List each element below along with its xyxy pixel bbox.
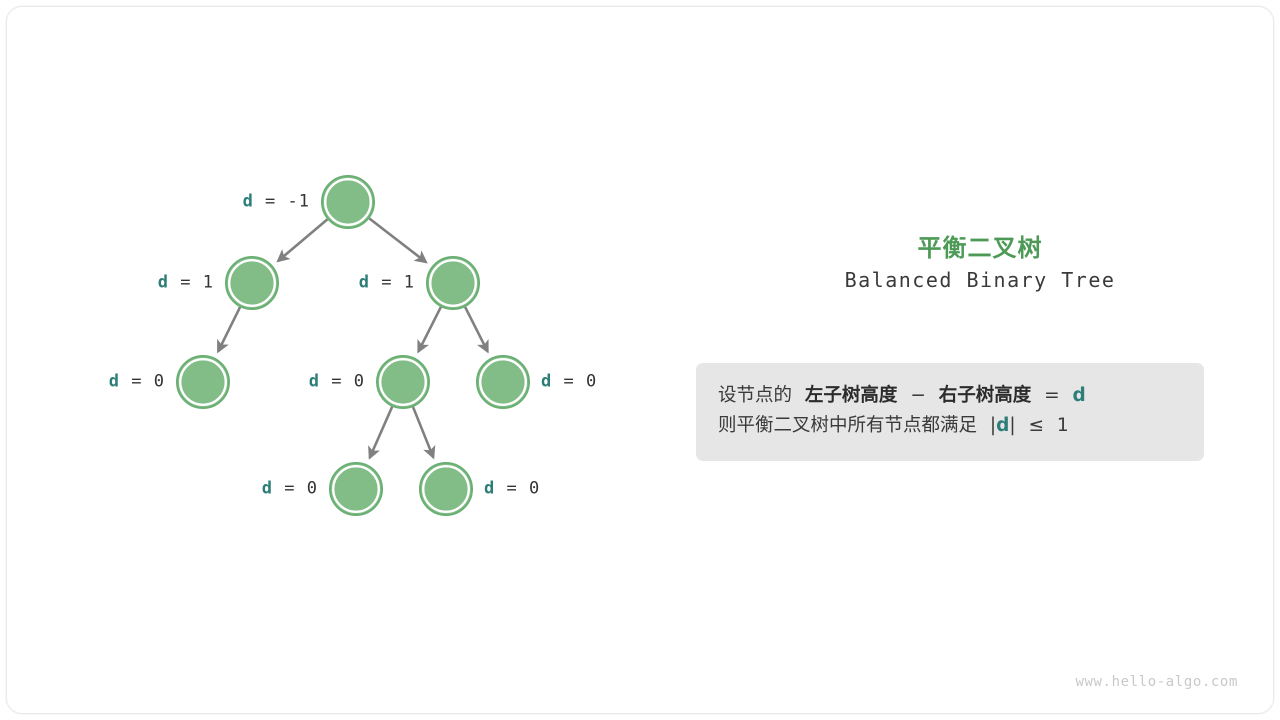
node-balance-label: d = 0	[541, 374, 597, 391]
node-balance-label: d = 0	[262, 481, 318, 498]
tree-edge	[278, 219, 327, 261]
definition-variable-d: d	[1073, 385, 1086, 406]
definition-relation-symbol: ≤	[1029, 415, 1045, 436]
tree-node-fill	[382, 361, 425, 404]
node-label-value: = 0	[495, 479, 540, 499]
tree-node[interactable]	[177, 356, 229, 408]
tree-edge	[413, 407, 433, 457]
definition-line-2: 则平衡二叉树中所有节点都满足 |d| ≤ 1	[718, 411, 1182, 441]
definition-term-left-subtree-height: 左子树高度	[805, 385, 898, 406]
tree-edge	[465, 307, 488, 352]
node-balance-label: d = 1	[359, 275, 415, 292]
panel-subtitle: Balanced Binary Tree	[680, 268, 1280, 292]
node-label-variable: d	[158, 273, 169, 293]
node-balance-label: d = 0	[309, 374, 365, 391]
node-label-variable: d	[541, 372, 552, 392]
tree-node[interactable]	[226, 257, 278, 309]
tree-node-fill	[425, 468, 468, 511]
node-label-value: = 0	[273, 479, 318, 499]
binary-tree-diagram: d = -1d = 1d = 1d = 0d = 0d = 0d = 0d = …	[0, 0, 680, 720]
tree-node[interactable]	[322, 176, 374, 228]
node-label-variable: d	[109, 372, 120, 392]
tree-edge	[418, 307, 441, 352]
tree-edges	[218, 218, 488, 457]
tree-node-fill	[182, 361, 225, 404]
tree-node-fill	[482, 361, 525, 404]
node-balance-label: d = 1	[158, 275, 214, 292]
node-balance-label: d = 0	[109, 374, 165, 391]
node-label-variable: d	[309, 372, 320, 392]
node-label-variable: d	[243, 192, 254, 212]
node-label-variable: d	[484, 479, 495, 499]
definition-line-1: 设节点的 左子树高度 − 右子树高度 = d	[718, 381, 1182, 411]
node-label-variable: d	[262, 479, 273, 499]
tree-node-fill	[231, 262, 274, 305]
definition-bound-value: 1	[1057, 415, 1069, 436]
tree-edge	[370, 407, 392, 458]
definition-term-right-subtree-height: 右子树高度	[939, 385, 1032, 406]
definition-line1-lead: 设节点的	[718, 385, 792, 406]
tree-nodes	[177, 176, 529, 515]
definition-box: 设节点的 左子树高度 − 右子树高度 = d 则平衡二叉树中所有节点都满足 |d…	[696, 363, 1204, 461]
tree-edge	[218, 307, 240, 351]
definition-line2-variable-d: d	[996, 415, 1009, 436]
definition-minus-sign: −	[910, 385, 926, 406]
node-label-value: = 1	[370, 273, 415, 293]
tree-node[interactable]	[377, 356, 429, 408]
tree-node[interactable]	[477, 356, 529, 408]
node-label-value: = 0	[120, 372, 165, 392]
node-balance-label: d = 0	[484, 481, 540, 498]
tree-node-fill	[432, 262, 475, 305]
tree-node[interactable]	[427, 257, 479, 309]
tree-node[interactable]	[420, 463, 472, 515]
panel-title: 平衡二叉树	[680, 228, 1280, 263]
tree-node[interactable]	[330, 463, 382, 515]
tree-edge	[369, 218, 426, 262]
definition-abs-close: |	[1009, 415, 1015, 436]
definition-line2-lead: 则平衡二叉树中所有节点都满足	[718, 415, 977, 436]
tree-node-fill	[335, 468, 378, 511]
figure-canvas: d = -1d = 1d = 1d = 0d = 0d = 0d = 0d = …	[0, 0, 1280, 720]
tree-svg	[0, 0, 680, 720]
node-label-variable: d	[359, 273, 370, 293]
node-label-value: = 1	[169, 273, 214, 293]
node-balance-label: d = -1	[243, 194, 310, 211]
node-label-value: = 0	[552, 372, 597, 392]
tree-node-fill	[327, 181, 370, 224]
info-panel: 平衡二叉树 Balanced Binary Tree 设节点的 左子树高度 − …	[680, 0, 1280, 720]
definition-equals-sign: =	[1044, 385, 1060, 406]
watermark-url: www.hello-algo.com	[1075, 674, 1238, 690]
node-label-value: = -1	[254, 192, 310, 212]
node-label-value: = 0	[320, 372, 365, 392]
